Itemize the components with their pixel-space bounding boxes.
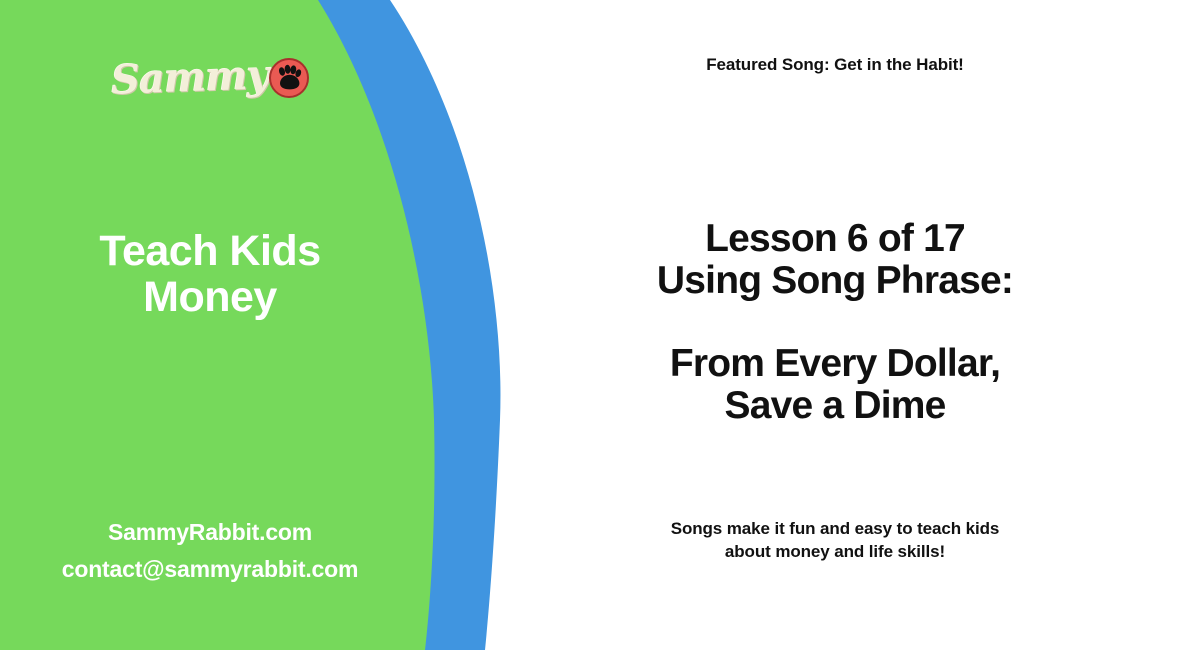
page-title-line-2: Money bbox=[10, 274, 410, 320]
email-link[interactable]: contact@sammyrabbit.com bbox=[10, 551, 410, 588]
lesson-heading: Lesson 6 of 17 Using Song Phrase: bbox=[585, 218, 1085, 302]
tagline-line-1: Songs make it fun and easy to teach kids bbox=[585, 518, 1085, 541]
lesson-heading-line-1: Lesson 6 of 17 bbox=[585, 218, 1085, 260]
left-brand-panel: Sammy Teach Kids Money SammyRabbit.com c… bbox=[0, 0, 420, 650]
lesson-heading-line-2: Using Song Phrase: bbox=[585, 260, 1085, 302]
song-phrase-line-1: From Every Dollar, bbox=[585, 343, 1085, 385]
website-link[interactable]: SammyRabbit.com bbox=[10, 514, 410, 551]
right-content-panel: Featured Song: Get in the Habit! Lesson … bbox=[585, 0, 1085, 650]
song-phrase: From Every Dollar, Save a Dime bbox=[585, 343, 1085, 427]
page-title: Teach Kids Money bbox=[10, 228, 410, 320]
contact-block: SammyRabbit.com contact@sammyrabbit.com bbox=[10, 514, 410, 588]
sammy-wordmark: Sammy bbox=[110, 55, 269, 100]
sammy-logo[interactable]: Sammy bbox=[0, 48, 420, 108]
paw-print-icon bbox=[269, 58, 309, 98]
page-title-line-1: Teach Kids bbox=[10, 228, 410, 274]
slide-canvas: Sammy Teach Kids Money SammyRabbit.com c… bbox=[0, 0, 1200, 650]
song-phrase-line-2: Save a Dime bbox=[585, 385, 1085, 427]
featured-song-label: Featured Song: Get in the Habit! bbox=[585, 55, 1085, 75]
tagline: Songs make it fun and easy to teach kids… bbox=[585, 518, 1085, 564]
tagline-line-2: about money and life skills! bbox=[585, 541, 1085, 564]
